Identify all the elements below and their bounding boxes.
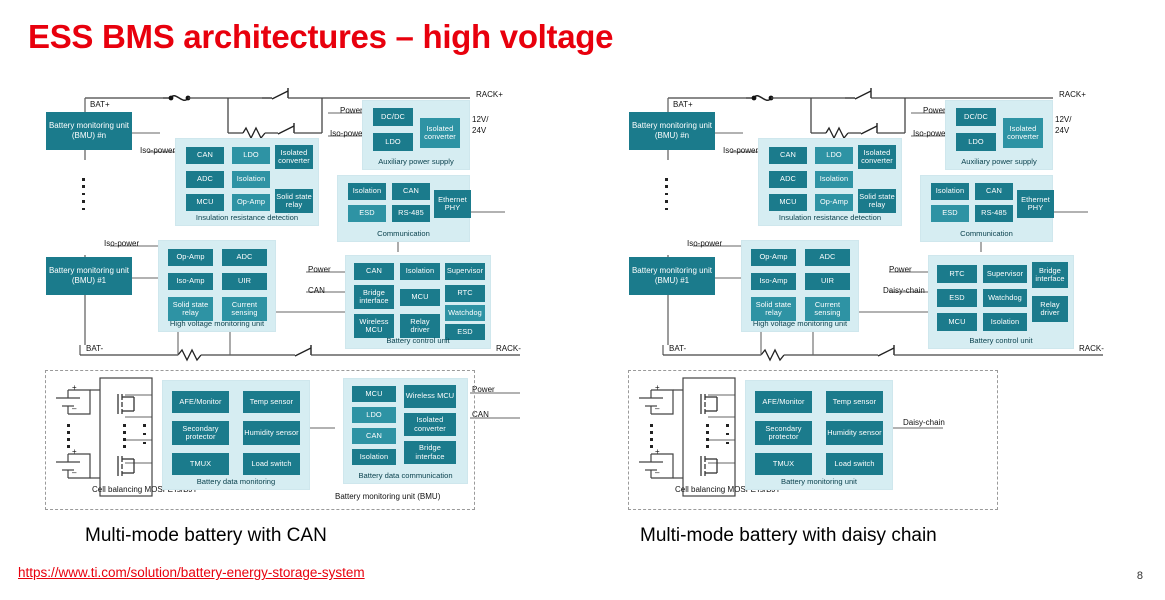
caption-right: Multi-mode battery with daisy chain bbox=[640, 525, 937, 547]
chip-ldo[interactable]: LDO bbox=[373, 133, 413, 151]
bmu-1-right[interactable]: Battery monitoring unit (BMU) #1 bbox=[629, 257, 715, 295]
chip-temp-sensor[interactable]: Temp sensor bbox=[826, 391, 883, 413]
label-power-aux-left: Power bbox=[340, 106, 363, 115]
cell-ellipsis-right bbox=[650, 424, 653, 448]
label-bat-plus-left: BAT+ bbox=[90, 100, 110, 109]
label-bat-minus-right: BAT- bbox=[669, 344, 686, 353]
chip-isolated-converter[interactable]: Isolated converter bbox=[420, 118, 460, 148]
chip-mcu[interactable]: MCU bbox=[352, 386, 396, 402]
chip-supervisor[interactable]: Supervisor bbox=[445, 263, 485, 280]
mosfet-ellipsis-left bbox=[123, 424, 126, 448]
harness-ellipsis-left bbox=[143, 424, 146, 444]
chip-rs485[interactable]: RS-485 bbox=[392, 205, 430, 222]
panel-communication-right: Isolation CAN Ethernet PHY ESD RS-485 Co… bbox=[920, 175, 1053, 242]
label-rack-plus-right: RACK+ bbox=[1059, 90, 1086, 99]
panel-title-data-communication: Battery data communication bbox=[344, 471, 467, 480]
panel-title-hv-monitoring: High voltage monitoring unit bbox=[742, 319, 858, 328]
panel-battery-data-communication-left: MCU Wireless MCU LDO Isolated converter … bbox=[343, 378, 468, 484]
bmu-1-label: Battery monitoring unit (BMU) #1 bbox=[48, 266, 130, 286]
panel-battery-control-right: RTC Supervisor Bridge interface ESD Watc… bbox=[928, 255, 1074, 349]
cell-plus-bottom-right: + bbox=[655, 447, 660, 456]
chip-watchdog[interactable]: Watchdog bbox=[983, 289, 1027, 307]
chip-uir[interactable]: UIR bbox=[222, 273, 267, 290]
panel-hv-monitoring-right: Op-Amp ADC Iso-Amp UIR Solid state relay… bbox=[741, 240, 859, 332]
chip-isolation[interactable]: Isolation bbox=[348, 183, 386, 200]
panel-title-monitoring-unit: Battery monitoring unit bbox=[746, 477, 892, 486]
label-power-bcu-left: Power bbox=[308, 265, 331, 274]
label-iso-power-aux-right: Iso-power bbox=[913, 129, 948, 138]
chip-isolation[interactable]: Isolation bbox=[931, 183, 969, 200]
panel-title-aux-power: Auxiliary power supply bbox=[363, 157, 469, 166]
chip-esd[interactable]: ESD bbox=[348, 205, 386, 222]
chip-isolation[interactable]: Isolation bbox=[983, 313, 1027, 331]
label-rack-minus-right: RACK- bbox=[1079, 344, 1104, 353]
chip-ldo[interactable]: LDO bbox=[352, 407, 396, 423]
panel-communication-left: Isolation CAN Ethernet PHY ESD RS-485 Co… bbox=[337, 175, 470, 242]
panel-title-communication: Communication bbox=[921, 229, 1052, 238]
source-link[interactable]: https://www.ti.com/solution/battery-ener… bbox=[18, 565, 365, 580]
chip-load-switch[interactable]: Load switch bbox=[826, 453, 883, 475]
label-12v-left: 12V/ bbox=[472, 115, 488, 124]
chip-isolation[interactable]: Isolation bbox=[400, 263, 440, 280]
chip-esd[interactable]: ESD bbox=[931, 205, 969, 222]
chip-op-amp[interactable]: Op-Amp bbox=[232, 194, 270, 211]
caption-left: Multi-mode battery with CAN bbox=[85, 525, 327, 547]
chip-wireless-mcu[interactable]: Wireless MCU bbox=[404, 385, 456, 408]
chip-rtc[interactable]: RTC bbox=[445, 285, 485, 302]
bmu-ellipsis-left bbox=[82, 178, 85, 210]
chip-supervisor[interactable]: Supervisor bbox=[983, 265, 1027, 283]
label-cell-balancing-left: Cell balancing MOSFETs/BJT bbox=[92, 485, 162, 494]
chip-current-sensing[interactable]: Current sensing bbox=[805, 297, 850, 321]
chip-can[interactable]: CAN bbox=[186, 147, 224, 164]
label-iso-power-hv-right: Iso-power bbox=[687, 239, 722, 248]
chip-relay-driver[interactable]: Relay driver bbox=[1032, 296, 1068, 322]
bmu-1-left[interactable]: Battery monitoring unit (BMU) #1 bbox=[46, 257, 132, 295]
panel-title-battery-control: Battery control unit bbox=[346, 336, 490, 345]
chip-ldo[interactable]: LDO bbox=[815, 147, 853, 164]
page-number: 8 bbox=[1137, 570, 1143, 582]
bmu-1-label: Battery monitoring unit (BMU) #1 bbox=[631, 266, 713, 286]
panel-aux-power-supply-right: DC/DC LDO Isolated converter Auxiliary p… bbox=[945, 100, 1053, 170]
panel-hv-monitoring-left: Op-Amp ADC Iso-Amp UIR Solid state relay… bbox=[158, 240, 276, 332]
chip-afe-monitor[interactable]: AFE/Monitor bbox=[755, 391, 812, 413]
cell-minus-top-right: – bbox=[655, 404, 659, 413]
panel-title-insulation: Insulation resistance detection bbox=[759, 213, 901, 222]
chip-uir[interactable]: UIR bbox=[805, 273, 850, 290]
label-iso-power-aux-left: Iso-power bbox=[330, 129, 365, 138]
chip-op-amp[interactable]: Op-Amp bbox=[168, 249, 213, 266]
panel-battery-control-left: CAN Isolation Supervisor Bridge interfac… bbox=[345, 255, 491, 349]
label-rack-minus-left: RACK- bbox=[496, 344, 521, 353]
label-bat-plus-right: BAT+ bbox=[673, 100, 693, 109]
chip-iso-amp[interactable]: Iso-Amp bbox=[751, 273, 796, 290]
cell-minus-bottom-right: – bbox=[655, 468, 659, 477]
chip-solid-state-relay[interactable]: Solid state relay bbox=[275, 189, 313, 213]
harness-ellipsis-right bbox=[726, 424, 729, 444]
chip-mcu[interactable]: MCU bbox=[769, 194, 807, 211]
panel-title-communication: Communication bbox=[338, 229, 469, 238]
chip-adc[interactable]: ADC bbox=[186, 171, 224, 188]
label-bat-minus-left: BAT- bbox=[86, 344, 103, 353]
chip-isolated-converter[interactable]: Isolated converter bbox=[858, 145, 896, 169]
chip-can[interactable]: CAN bbox=[975, 183, 1013, 200]
chip-ethernet-phy[interactable]: Ethernet PHY bbox=[1017, 190, 1054, 218]
chip-can[interactable]: CAN bbox=[769, 147, 807, 164]
chip-mcu[interactable]: MCU bbox=[400, 289, 440, 306]
chip-isolation[interactable]: Isolation bbox=[352, 449, 396, 465]
chip-dcdc[interactable]: DC/DC bbox=[373, 108, 413, 126]
label-24v-left: 24V bbox=[472, 126, 486, 135]
cell-plus-top-left: + bbox=[72, 383, 77, 392]
chip-wireless-mcu[interactable]: Wireless MCU bbox=[354, 314, 394, 338]
chip-iso-amp[interactable]: Iso-Amp bbox=[168, 273, 213, 290]
cell-ellipsis-left bbox=[67, 424, 70, 448]
mosfet-ellipsis-right bbox=[706, 424, 709, 448]
chip-mcu[interactable]: MCU bbox=[937, 313, 977, 331]
chip-humidity-sensor[interactable]: Humidity sensor bbox=[826, 421, 883, 445]
panel-aux-power-supply-left: DC/DC LDO Isolated converter Auxiliary p… bbox=[362, 100, 470, 170]
label-iso-power-insulation-left: Iso-power bbox=[140, 146, 175, 155]
label-power-bdc-left: Power bbox=[472, 385, 495, 394]
bmu-n-left[interactable]: Battery monitoring unit (BMU) #n bbox=[46, 112, 132, 150]
chip-rs485[interactable]: RS-485 bbox=[975, 205, 1013, 222]
label-power-bcu-right: Power bbox=[889, 265, 912, 274]
chip-isolation[interactable]: Isolation bbox=[232, 171, 270, 188]
label-iso-power-insulation-right: Iso-power bbox=[723, 146, 758, 155]
panel-title-hv-monitoring: High voltage monitoring unit bbox=[159, 319, 275, 328]
chip-mcu[interactable]: MCU bbox=[186, 194, 224, 211]
chip-isolated-converter[interactable]: Isolated converter bbox=[275, 145, 313, 169]
chip-watchdog[interactable]: Watchdog bbox=[445, 305, 485, 321]
chip-tmux[interactable]: TMUX bbox=[755, 453, 812, 475]
chip-secondary-protector[interactable]: Secondary protector bbox=[172, 421, 229, 445]
chip-temp-sensor[interactable]: Temp sensor bbox=[243, 391, 300, 413]
chip-tmux[interactable]: TMUX bbox=[172, 453, 229, 475]
chip-esd[interactable]: ESD bbox=[937, 289, 977, 307]
chip-op-amp[interactable]: Op-Amp bbox=[815, 194, 853, 211]
left-architecture-diagram: BAT+ RACK+ BAT- RACK- Iso-power Iso-powe… bbox=[0, 0, 582, 520]
label-can-bcu-left: CAN bbox=[308, 286, 325, 295]
panel-insulation-resistance-right: CAN LDO Isolated converter ADC Isolation… bbox=[758, 138, 902, 226]
chip-bridge-interface[interactable]: Bridge interface bbox=[1032, 262, 1068, 288]
cell-stack-container-left bbox=[54, 380, 122, 500]
chip-solid-state-relay[interactable]: Solid state relay bbox=[168, 297, 213, 321]
label-cell-balancing-right: Cell balancing MOSFETs/BJT bbox=[675, 485, 745, 494]
label-24v-right: 24V bbox=[1055, 126, 1069, 135]
chip-ldo[interactable]: LDO bbox=[232, 147, 270, 164]
chip-solid-state-relay[interactable]: Solid state relay bbox=[858, 189, 896, 213]
cell-plus-bottom-left: + bbox=[72, 447, 77, 456]
chip-adc[interactable]: ADC bbox=[222, 249, 267, 266]
label-rack-plus-left: RACK+ bbox=[476, 90, 503, 99]
bmu-n-right[interactable]: Battery monitoring unit (BMU) #n bbox=[629, 112, 715, 150]
cell-minus-top-left: – bbox=[72, 404, 76, 413]
panel-title-insulation: Insulation resistance detection bbox=[176, 213, 318, 222]
chip-adc[interactable]: ADC bbox=[769, 171, 807, 188]
chip-isolated-converter[interactable]: Isolated converter bbox=[1003, 118, 1043, 148]
panel-battery-monitoring-unit-right: AFE/Monitor Temp sensor Secondary protec… bbox=[745, 380, 893, 490]
chip-secondary-protector[interactable]: Secondary protector bbox=[755, 421, 812, 445]
chip-solid-state-relay[interactable]: Solid state relay bbox=[751, 297, 796, 321]
cell-plus-top-right: + bbox=[655, 383, 660, 392]
chip-can[interactable]: CAN bbox=[354, 263, 394, 280]
panel-title-battery-control: Battery control unit bbox=[929, 336, 1073, 345]
chip-isolation[interactable]: Isolation bbox=[815, 171, 853, 188]
chip-current-sensing[interactable]: Current sensing bbox=[222, 297, 267, 321]
bmu-n-label: Battery monitoring unit (BMU) #n bbox=[631, 121, 713, 141]
panel-title-data-monitoring: Battery data monitoring bbox=[163, 477, 309, 486]
label-bmu-bottom-left: Battery monitoring unit (BMU) bbox=[335, 492, 440, 501]
label-power-aux-right: Power bbox=[923, 106, 946, 115]
label-daisy-chain-bcu-right: Daisy-chain bbox=[883, 286, 925, 295]
right-architecture-diagram: BAT+ RACK+ BAT- RACK- Iso-power Iso-powe… bbox=[583, 0, 1165, 520]
panel-battery-data-monitoring-left: AFE/Monitor Temp sensor Secondary protec… bbox=[162, 380, 310, 490]
chip-can[interactable]: CAN bbox=[352, 428, 396, 444]
chip-isolated-converter[interactable]: Isolated converter bbox=[404, 413, 456, 436]
chip-op-amp[interactable]: Op-Amp bbox=[751, 249, 796, 266]
bmu-n-label: Battery monitoring unit (BMU) #n bbox=[48, 121, 130, 141]
panel-title-aux-power: Auxiliary power supply bbox=[946, 157, 1052, 166]
chip-rtc[interactable]: RTC bbox=[937, 265, 977, 283]
chip-load-switch[interactable]: Load switch bbox=[243, 453, 300, 475]
chip-relay-driver[interactable]: Relay driver bbox=[400, 314, 440, 338]
chip-dcdc[interactable]: DC/DC bbox=[956, 108, 996, 126]
label-iso-power-hv-left: Iso-power bbox=[104, 239, 139, 248]
slide-root: ESS BMS architectures – high voltage bbox=[0, 0, 1165, 600]
panel-insulation-resistance-left: CAN LDO Isolated converter ADC Isolation… bbox=[175, 138, 319, 226]
chip-adc[interactable]: ADC bbox=[805, 249, 850, 266]
chip-humidity-sensor[interactable]: Humidity sensor bbox=[243, 421, 300, 445]
chip-ethernet-phy[interactable]: Ethernet PHY bbox=[434, 190, 471, 218]
bmu-ellipsis-right bbox=[665, 178, 668, 210]
chip-bridge-interface[interactable]: Bridge interface bbox=[354, 285, 394, 309]
label-12v-right: 12V/ bbox=[1055, 115, 1071, 124]
chip-ldo[interactable]: LDO bbox=[956, 133, 996, 151]
chip-can[interactable]: CAN bbox=[392, 183, 430, 200]
chip-bridge-interface[interactable]: Bridge interface bbox=[404, 441, 456, 464]
cell-minus-bottom-left: – bbox=[72, 468, 76, 477]
chip-afe-monitor[interactable]: AFE/Monitor bbox=[172, 391, 229, 413]
